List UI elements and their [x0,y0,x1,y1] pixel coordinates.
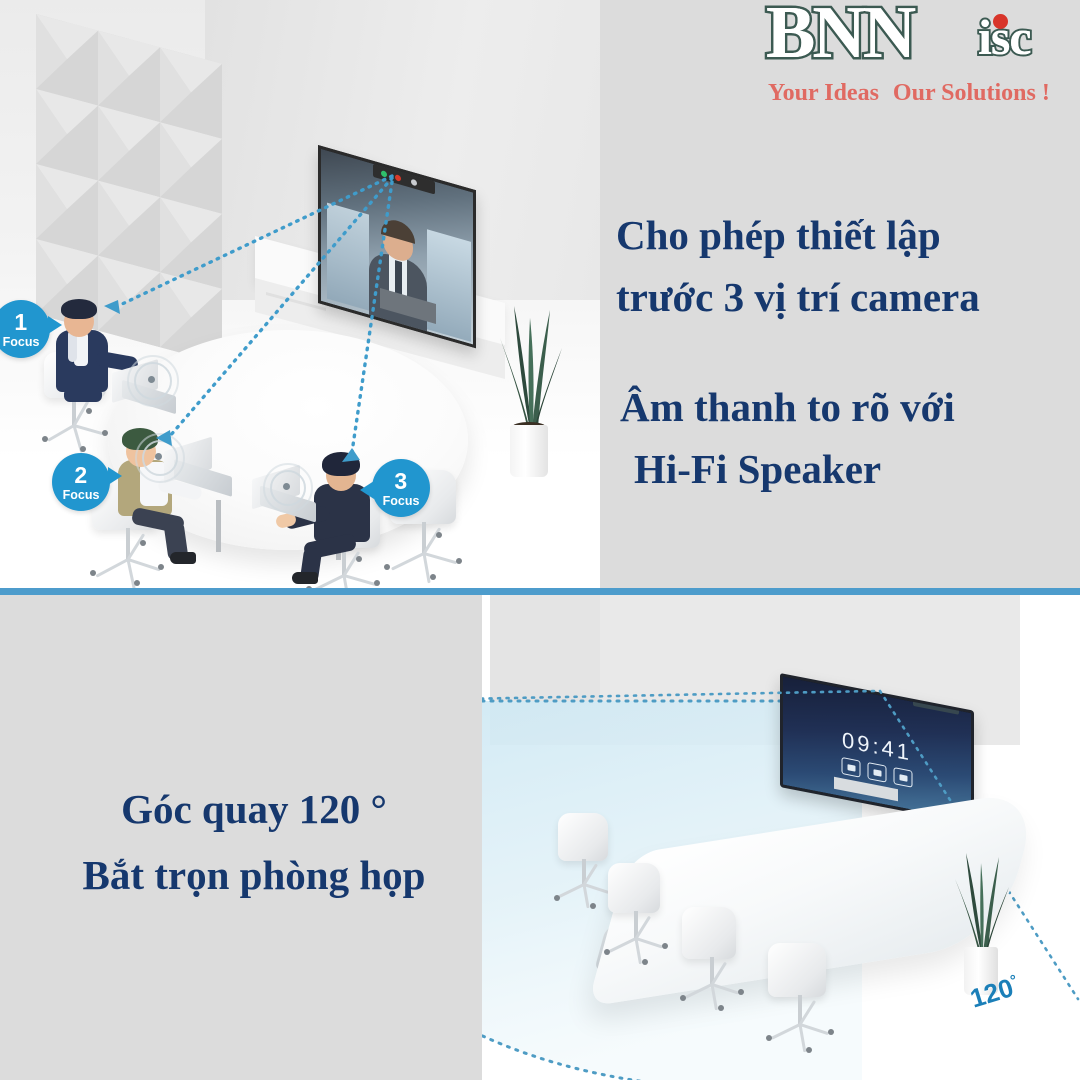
top-panel: 1 Focus 2 Focus 3 Focus BNN BNN isc isc [0,0,1080,588]
snake-plant-leaves [948,843,1014,955]
logo-red-dot-icon [993,14,1008,29]
chair [760,943,848,1053]
chair [600,863,678,963]
top-headline-line-3: Âm thanh to rõ với [620,376,1072,438]
brand-logo[interactable]: BNN BNN isc isc Your IdeasOur Solutions … [762,4,1080,108]
microphone-dot [283,483,290,490]
chair [674,907,754,1009]
camera-lens [411,179,417,187]
focus-badge-label: Focus [0,336,50,349]
top-headline-line-4: Hi-Fi Speaker [620,438,1072,500]
focus-badge-2: 2 Focus [52,453,110,511]
bottom-panel: 09:41 [0,595,1080,1080]
snake-plant-leaves [492,292,568,432]
focus-badge-number: 3 [372,459,430,493]
logo-wordmark: BNN BNN isc isc [762,0,1080,74]
tagline-left: Your Ideas [768,80,879,106]
bottom-headline-line-1: Góc quay 120 ° [34,776,474,842]
panel-divider [0,588,1080,595]
camera-led-red [395,174,401,182]
camera-led-green [381,170,387,178]
feed-window-left [327,203,369,311]
focus-badge-number: 1 [0,300,50,334]
bottom-headline-block: Góc quay 120 ° Bắt trọn phòng họp [34,776,474,909]
focus-badge-number: 2 [52,453,110,487]
focus-badge-label: Focus [52,489,110,502]
bottom-illustration-coverage: 09:41 [482,595,1080,1080]
plant-pot [510,425,548,477]
microphone-dot [148,376,155,383]
focus-badge-label: Focus [372,495,430,508]
top-headline-block-2: Âm thanh to rõ với Hi-Fi Speaker [620,376,1072,501]
feed-window-right [427,229,471,342]
top-headline-block-1: Cho phép thiết lập trước 3 vị trí camera [616,204,1068,329]
tagline-right: Our Solutions ! [893,80,1050,106]
bottom-headline-line-2: Bắt trọn phòng họp [34,842,474,908]
microphone-dot [155,453,162,460]
top-headline-line-2: trước 3 vị trí camera [616,266,1068,328]
logo-bnn-fill: BNN [766,0,913,70]
logo-tagline: Your IdeasOur Solutions ! [768,80,1080,107]
top-illustration-meeting-room: 1 Focus 2 Focus 3 Focus [0,0,600,588]
focus-badge-3: 3 Focus [372,459,430,517]
poster-canvas: 1 Focus 2 Focus 3 Focus BNN BNN isc isc [0,0,1080,1080]
top-headline-line-1: Cho phép thiết lập [616,204,1068,266]
